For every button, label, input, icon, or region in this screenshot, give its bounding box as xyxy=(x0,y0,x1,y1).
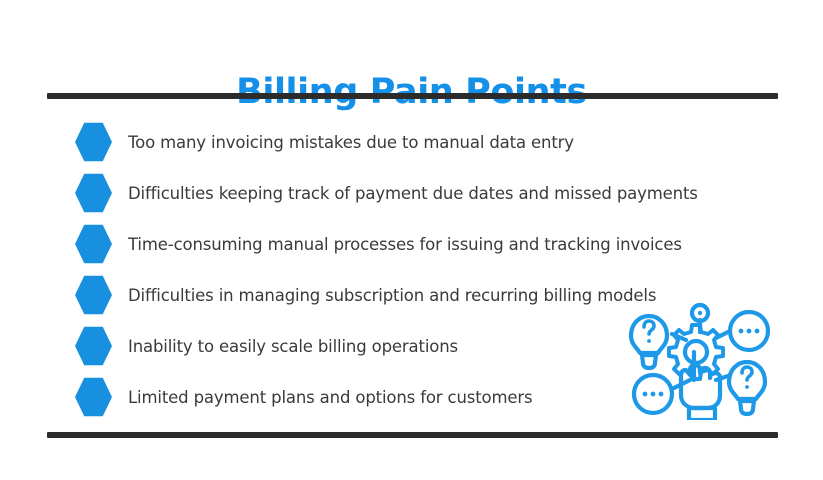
speech-bubble-dots-top-right-icon xyxy=(730,312,768,350)
speech-bubble-dots-bottom-left-icon xyxy=(634,375,672,413)
divider-bottom xyxy=(47,432,778,438)
list-item-label: Time-consuming manual processes for issu… xyxy=(128,220,793,268)
list-item: Too many invoicing mistakes due to manua… xyxy=(0,118,823,169)
list-item: Time-consuming manual processes for issu… xyxy=(0,220,823,271)
divider-top xyxy=(47,93,778,99)
lightbulb-question-top-left-icon xyxy=(631,316,667,368)
list-item-label: Difficulties keeping track of payment du… xyxy=(128,169,793,217)
node-dot-center xyxy=(698,311,702,315)
hexagon-bullet-icon xyxy=(75,173,112,213)
slide-canvas: Billing Pain Points Too many invoicing m… xyxy=(0,0,823,480)
hexagon-bullet-icon xyxy=(75,122,112,162)
hexagon-bullet-icon xyxy=(75,377,112,417)
hexagon-bullet-icon xyxy=(75,275,112,315)
hexagon-bullet-icon xyxy=(75,224,112,264)
hexagon-bullet-icon xyxy=(75,326,112,366)
problem-solving-illustration xyxy=(628,300,770,420)
list-item-label: Too many invoicing mistakes due to manua… xyxy=(128,118,793,166)
lightbulb-question-bottom-right-icon xyxy=(729,362,765,414)
list-item: Difficulties keeping track of payment du… xyxy=(0,169,823,220)
problem-solving-icon xyxy=(628,300,770,420)
